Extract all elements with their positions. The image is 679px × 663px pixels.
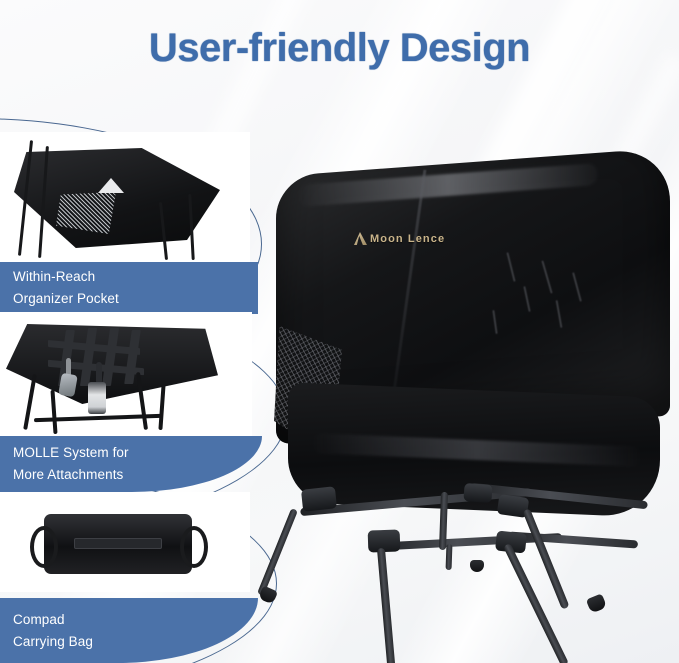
brand-logo: Moon Lence — [354, 232, 445, 245]
feature-photo-organizer-pocket — [0, 132, 250, 265]
frame-center-stub — [446, 544, 453, 570]
page-title: User-friendly Design — [0, 26, 679, 71]
frame-hub — [301, 486, 337, 511]
infographic-canvas: User-friendly Design Within-Reach Organi… — [0, 0, 679, 663]
feature-label-line2: Organizer Pocket — [13, 288, 258, 310]
feature-photo-molle-system — [0, 312, 252, 437]
frame-hub — [463, 483, 492, 503]
feature-photo-carrying-bag — [0, 492, 250, 592]
chair-foot — [586, 593, 607, 613]
bag-handle-right — [180, 526, 208, 568]
chair-leg-rear-left — [257, 508, 298, 596]
chair-leg — [158, 384, 165, 430]
bag-front-strap — [74, 538, 162, 549]
feature-label-organizer-pocket: Within-Reach Organizer Pocket — [0, 262, 258, 314]
feature-label-line2: Carrying Bag — [13, 631, 258, 653]
frame-rail-lower-right — [508, 531, 638, 548]
feature-label-carrying-bag: Compad Carrying Bag — [0, 598, 258, 663]
product-image-chair: Moon Lence — [258, 140, 679, 663]
hanging-lantern — [88, 382, 106, 414]
feature-label-line1: Compad — [13, 609, 258, 631]
mountain-icon — [354, 232, 367, 245]
chair-foot — [258, 585, 278, 604]
brand-logo-text: Moon Lence — [370, 233, 445, 245]
chair-foot — [470, 560, 484, 572]
feature-label-line1: Within-Reach — [13, 266, 258, 288]
chair-leg-front-left — [377, 548, 399, 663]
bag-handle-left — [30, 526, 58, 568]
feature-label-molle-system: MOLLE System for More Attachments — [0, 436, 262, 492]
lantern-hook — [96, 362, 102, 384]
feature-label-line2: More Attachments — [13, 464, 262, 486]
chair-leg — [50, 390, 57, 434]
feature-label-line1: MOLLE System for — [13, 442, 262, 464]
